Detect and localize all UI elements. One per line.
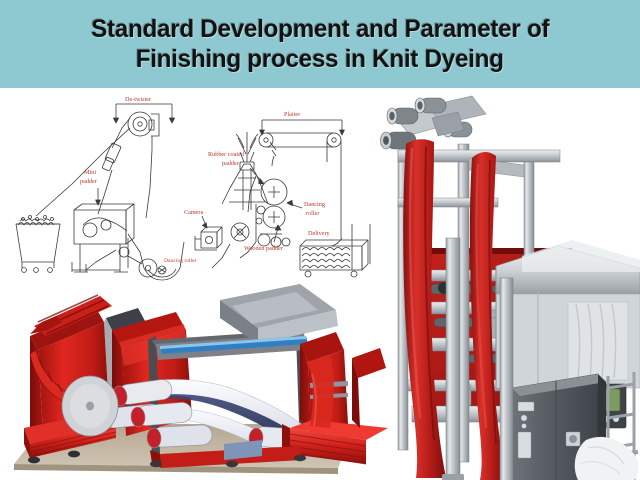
fabric-path-inlet [36,128,130,216]
red-compactor-render [0,278,392,480]
rubber-padder-pointer [250,168,264,184]
slide-root: Standard Development and Parameter of Fi… [0,0,640,480]
process-flow-diagram: De-twister Mini padder Camera Plaiter Ru… [12,92,382,292]
de-twister-dimension [113,104,174,123]
fabric-trolley-icon [16,216,60,273]
lower-dancing-roller [72,247,157,277]
guide-roller-cluster [231,223,290,247]
mini-padder-pointer [96,188,101,205]
de-twister-unit [102,112,159,171]
camera-pointer [202,216,207,228]
scray-trough [128,234,184,280]
mini-padder-unit [74,204,134,272]
main-drum [62,376,118,436]
fabric-path-to-padder [248,176,256,212]
diagram-label-de-twister: De-twister [125,96,151,103]
diagram-label-rubber-padder-line1: Rubber coated [208,151,245,158]
camera-unit [195,227,222,250]
diagram-label-camera: Camera [184,209,203,216]
diagram-label-rubber-padder-line2: padder [222,160,239,167]
spreader-frame [222,132,268,210]
machine-front-hood [496,240,640,388]
fabric-path-to-mini-padder [98,170,112,214]
fabric-path-delivery [332,238,342,246]
stainless-machine-svg [372,88,640,480]
diagram-label-dancing-roller-lower: Dancing roller [164,258,197,264]
diagram-label-plaiter: Plaiter [284,111,300,118]
title-band: Standard Development and Parameter of Fi… [0,0,640,88]
stainless-machine-photo [372,88,640,480]
dancing-roller-pointer [287,200,302,208]
diagram-label-dancing-roller-line1: Dancing [304,201,325,208]
page-title-line-2: Finishing process in Knit Dyeing [136,44,504,74]
secondary-machine-edge [352,348,386,428]
page-title-line-1: Standard Development and Parameter of [91,14,549,44]
diagram-label-wooden-padder: Wooden padder [244,245,283,252]
plaiter-unit [259,133,341,238]
red-compactor-svg [0,278,392,480]
diagram-label-delivery: Delivery [308,230,331,237]
process-flow-diagram-svg: De-twister Mini padder Camera Plaiter Ru… [12,92,382,292]
diagram-label-mini-padder-line2: padder [80,178,97,185]
slide-body: De-twister Mini padder Camera Plaiter Ru… [0,88,640,480]
diagram-label-dancing-roller-line2: roller [306,210,319,217]
diagram-label-mini-padder-line1: Mini [84,169,96,176]
fabric-path-secondary [146,150,152,218]
wooden-padder-pointer [274,225,281,242]
machine-top-roller-head [381,96,487,149]
